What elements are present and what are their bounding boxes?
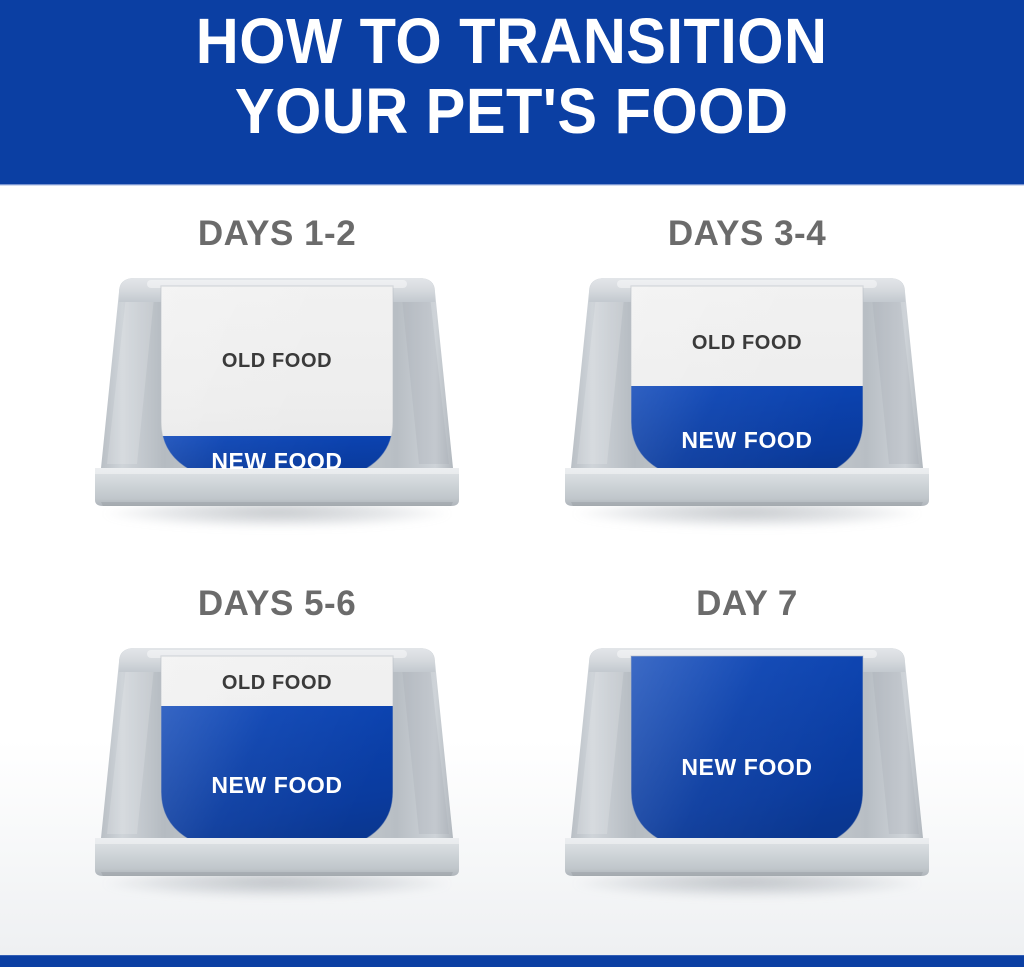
bowl-base-gloss (95, 468, 459, 474)
bowl-base-shade (101, 502, 453, 506)
page-title-line-1: HOW TO TRANSITION (196, 6, 828, 76)
stages-grid: DAYS 1-2 (0, 186, 1024, 955)
bowl-graphic (547, 642, 947, 894)
bowl-cavity (631, 656, 863, 858)
bowl-cavity (161, 656, 393, 858)
bowl-graphic (77, 272, 477, 524)
food-bowl-days-3-4: OLD FOOD NEW FOOD (547, 272, 947, 524)
stage-card-days-1-2[interactable]: DAYS 1-2 (42, 214, 512, 574)
bowl-base-gloss (565, 468, 929, 474)
food-bowl-day-7: OLD FOOD NEW FOOD (547, 642, 947, 894)
stage-card-day-7[interactable]: DAY 7 (512, 584, 982, 944)
bowl-graphic (547, 272, 947, 524)
food-bowl-days-1-2: OLD FOOD NEW FOOD (77, 272, 477, 524)
bowl-base-shade (101, 872, 453, 876)
stage-card-days-5-6[interactable]: DAYS 5-6 (42, 584, 512, 944)
bowl-base-gloss (95, 838, 459, 844)
cavity-gloss (161, 656, 393, 856)
infographic-page: HOW TO TRANSITION YOUR PET'S FOOD DAYS 1… (0, 0, 1024, 967)
bowl-base-gloss (565, 838, 929, 844)
bowl-base-shade (571, 872, 923, 876)
footer-bar (0, 955, 1024, 967)
stage-day-label: DAY 7 (696, 584, 798, 624)
cavity-gloss (631, 286, 863, 486)
header-banner: HOW TO TRANSITION YOUR PET'S FOOD (0, 0, 1024, 184)
bowl-cavity (161, 286, 393, 488)
bowl-cavity (631, 286, 863, 488)
cavity-gloss (161, 286, 393, 486)
page-title-line-2: YOUR PET'S FOOD (235, 76, 789, 146)
stage-day-label: DAYS 1-2 (198, 214, 356, 254)
bowl-base-shade (571, 502, 923, 506)
stage-day-label: DAYS 5-6 (198, 584, 356, 624)
bowl-graphic (77, 642, 477, 894)
cavity-gloss (631, 656, 863, 856)
food-bowl-days-5-6: OLD FOOD NEW FOOD (77, 642, 477, 894)
stage-day-label: DAYS 3-4 (668, 214, 826, 254)
stage-card-days-3-4[interactable]: DAYS 3-4 (512, 214, 982, 574)
